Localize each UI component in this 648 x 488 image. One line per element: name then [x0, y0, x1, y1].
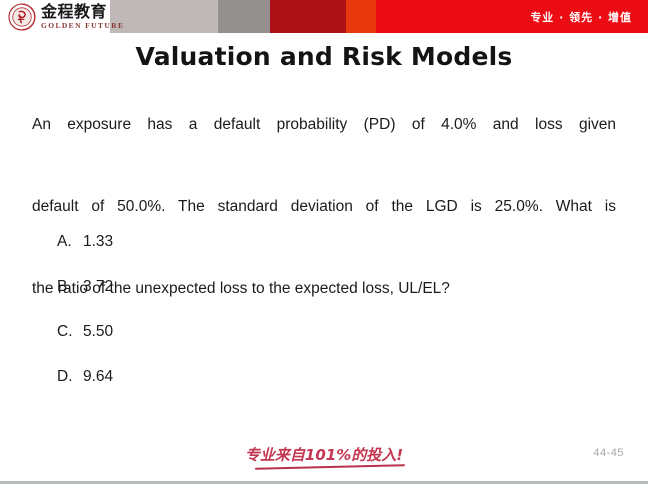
answer-choice-b-value: 3.72	[83, 278, 113, 296]
answer-choice-c-letter: C.	[57, 323, 83, 341]
answer-choice-a[interactable]: A. 1.33	[57, 233, 357, 278]
brand-name-english: GOLDEN FUTURE	[41, 22, 124, 30]
header-band-orange	[346, 0, 376, 33]
answer-choice-b-letter: B.	[57, 278, 83, 296]
page-title: Valuation and Risk Models	[0, 42, 648, 71]
answer-choice-c-value: 5.50	[83, 323, 113, 341]
header-band-light-gray	[110, 0, 218, 33]
brand-name-chinese: 金程教育	[41, 4, 124, 20]
answer-choice-d-value: 9.64	[83, 368, 113, 386]
bottom-divider	[0, 481, 648, 484]
slide-header: 金程教育 GOLDEN FUTURE 专业 · 领先 · 增值	[0, 0, 648, 33]
question-line-1: An exposure has a default probability (P…	[32, 104, 616, 186]
circular-seal-logo-icon	[8, 3, 36, 31]
brand-logo-text: 金程教育 GOLDEN FUTURE	[41, 4, 124, 30]
brand-logo: 金程教育 GOLDEN FUTURE	[8, 2, 124, 32]
answer-choice-d[interactable]: D. 9.64	[57, 368, 357, 413]
answer-choice-c[interactable]: C. 5.50	[57, 323, 357, 368]
footer-slogan-underline	[255, 464, 405, 470]
answer-choice-d-letter: D.	[57, 368, 83, 386]
answer-choices-list: A. 1.33 B. 3.72 C. 5.50 D. 9.64	[57, 233, 357, 413]
slide-root: 金程教育 GOLDEN FUTURE 专业 · 领先 · 增值 Valuatio…	[0, 0, 648, 488]
header-band-medium-gray	[218, 0, 270, 33]
answer-choice-a-letter: A.	[57, 233, 83, 251]
page-number: 44-45	[593, 447, 624, 459]
header-band-dark-red	[270, 0, 346, 33]
footer-slogan: 专业来自101%的投入!	[0, 444, 648, 465]
header-tagline: 专业 · 领先 · 增值	[530, 0, 632, 33]
answer-choice-b[interactable]: B. 3.72	[57, 278, 357, 323]
answer-choice-a-value: 1.33	[83, 233, 113, 251]
